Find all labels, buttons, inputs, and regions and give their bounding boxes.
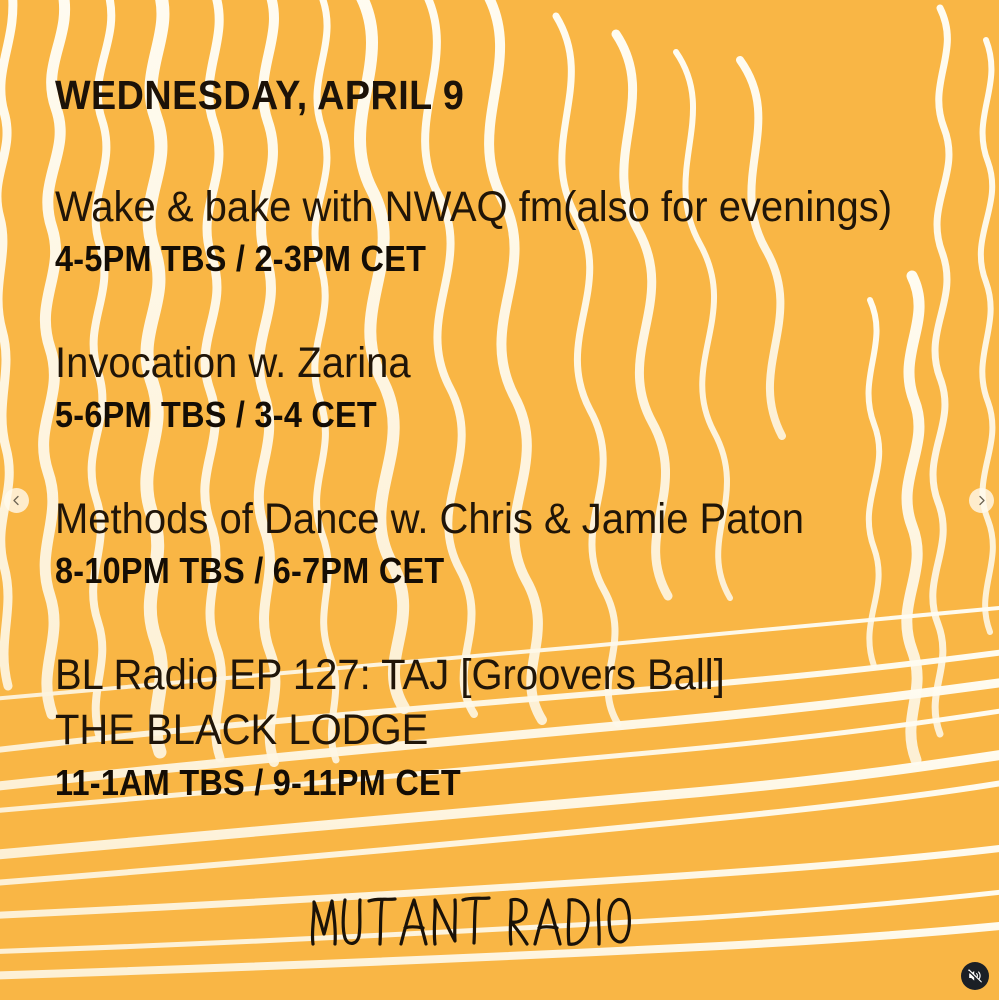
entry-time: 4-5PM TBS / 2-3PM CET <box>55 234 865 284</box>
schedule-entry: Wake & bake with NWAQ fm(also for evenin… <box>55 180 955 284</box>
schedule-content: WEDNESDAY, APRIL 9 Wake & bake with NWAQ… <box>55 0 985 1000</box>
schedule-entry: Methods of Dance w. Chris & Jamie Paton … <box>55 492 860 596</box>
mute-toggle-button[interactable] <box>961 962 989 990</box>
chevron-left-icon <box>11 495 22 506</box>
instagram-story-slide: WEDNESDAY, APRIL 9 Wake & bake with NWAQ… <box>0 0 999 1000</box>
entry-title: Wake & bake with NWAQ fm(also for evenin… <box>55 180 892 234</box>
schedule-entry: BL Radio EP 127: TAJ [Groovers Ball] THE… <box>55 648 775 808</box>
page-title: WEDNESDAY, APRIL 9 <box>55 72 464 119</box>
chevron-right-icon <box>976 495 987 506</box>
entry-title: Methods of Dance w. Chris & Jamie Paton <box>55 492 804 546</box>
entry-time: 11-1AM TBS / 9-11PM CET <box>55 758 703 808</box>
speaker-muted-icon <box>967 968 983 984</box>
entry-time: 8-10PM TBS / 6-7PM CET <box>55 546 780 596</box>
mutant-radio-logo <box>305 886 635 956</box>
carousel-next-button[interactable] <box>969 488 994 513</box>
entry-title: BL Radio EP 127: TAJ [Groovers Ball] <box>55 648 725 702</box>
entry-time: 5-6PM TBS / 3-4 CET <box>55 390 399 440</box>
schedule-entry: Invocation w. Zarina 5-6PM TBS / 3-4 CET <box>55 336 437 440</box>
entry-subtitle: THE BLACK LODGE <box>55 702 725 758</box>
carousel-prev-button[interactable] <box>4 488 29 513</box>
entry-title: Invocation w. Zarina <box>55 336 411 390</box>
